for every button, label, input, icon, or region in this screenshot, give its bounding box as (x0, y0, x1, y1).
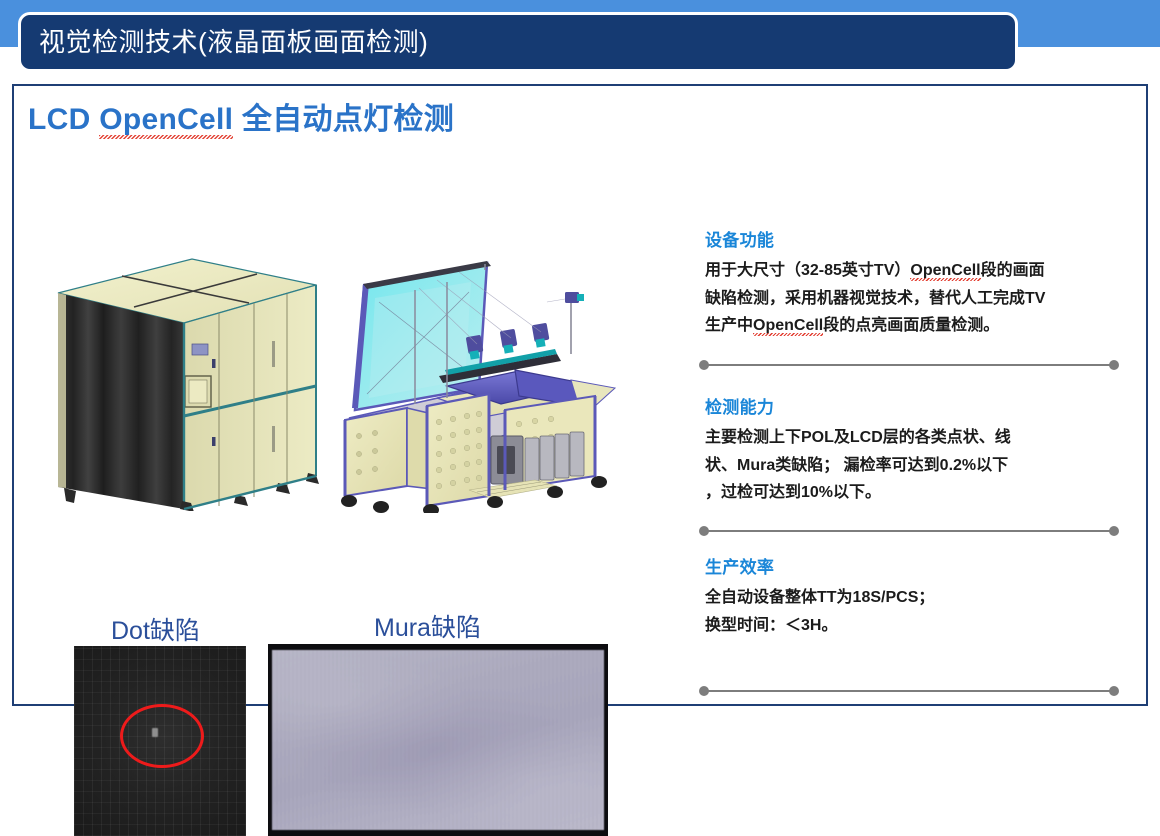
caption-dot-defect: Dot缺陷 (111, 611, 200, 647)
text-run: 换型时间：＜3H。 (705, 617, 837, 634)
text-run-misspelled: OpenCell (910, 262, 980, 279)
mura-panel-surface (272, 650, 604, 830)
sample-image-mura-defect (268, 644, 608, 836)
machine-cabinet-illustration (44, 241, 334, 511)
page-title: LCD OpenCell 全自动点灯检测 (28, 94, 454, 138)
section-line: 生产中OpenCell段的点亮画面质量检测。 (705, 312, 1129, 340)
section-heading: 设备功能 (705, 226, 1129, 251)
text-run: 缺陷检测，采用机器视觉技术，替代人工完成TV (705, 290, 1045, 307)
text-run: 全自动设备整体TT为18S/PCS； (705, 589, 934, 606)
slide-title-text: 视觉检测技术(液晶面板画面检测) (21, 29, 428, 55)
page-title-prefix: LCD (28, 103, 99, 136)
text-run: ，过检可达到10%以下。 (705, 484, 881, 501)
section-line: 缺陷检测，采用机器视觉技术，替代人工完成TV (705, 285, 1129, 313)
divider-line (705, 530, 1113, 532)
divider-line (705, 690, 1113, 692)
section-line: 用于大尺寸（32-85英寸TV）OpenCell段的画面 (705, 257, 1129, 285)
text-run: 主要检测上下POL及LCD层的各类点状、线 (705, 429, 1011, 446)
content-frame: LCD OpenCell 全自动点灯检测 (12, 84, 1148, 706)
text-run: 段的画面 (981, 262, 1045, 279)
section-divider (699, 526, 1119, 536)
dot-defect-marker-ellipse (120, 704, 204, 768)
machine-inspection-rig-illustration (319, 258, 629, 513)
text-run: 状、Mura类缺陷； 漏检率可达到0.2%以下 (705, 457, 1008, 474)
slide-title-bar: 视觉检测技术(液晶面板画面检测) (18, 12, 1018, 72)
slide-root: 视觉检测技术(液晶面板画面检测) LCD OpenCell 全自动点灯检测 (0, 0, 1160, 720)
divider-dot-right (1109, 686, 1119, 696)
spec-section-equipment-function: 设备功能 用于大尺寸（32-85英寸TV）OpenCell段的画面 缺陷检测，采… (699, 226, 1129, 340)
section-line: ，过检可达到10%以下。 (705, 479, 1129, 507)
section-heading: 生产效率 (705, 553, 1129, 578)
page-title-opencell: OpenCell (99, 103, 233, 136)
section-line: 换型时间：＜3H。 (705, 612, 1129, 640)
divider-dot-right (1109, 360, 1119, 370)
section-body: 全自动设备整体TT为18S/PCS； 换型时间：＜3H。 (705, 584, 1129, 639)
illustration-zone: Dot缺陷 Mura缺陷 (14, 146, 674, 526)
section-body: 主要检测上下POL及LCD层的各类点状、线 状、Mura类缺陷； 漏检率可达到0… (705, 424, 1129, 507)
spec-section-detection-capability: 检测能力 主要检测上下POL及LCD层的各类点状、线 状、Mura类缺陷； 漏检… (699, 393, 1129, 507)
section-line: 主要检测上下POL及LCD层的各类点状、线 (705, 424, 1129, 452)
text-run: 生产中 (705, 317, 753, 334)
divider-line (705, 364, 1113, 366)
text-run-misspelled: OpenCell (753, 317, 823, 334)
page-title-suffix: 全自动点灯检测 (233, 103, 454, 136)
divider-dot-right (1109, 526, 1119, 536)
sample-image-dot-defect (74, 646, 246, 836)
section-line: 全自动设备整体TT为18S/PCS； (705, 584, 1129, 612)
section-heading: 检测能力 (705, 393, 1129, 418)
section-line: 状、Mura类缺陷； 漏检率可达到0.2%以下 (705, 452, 1129, 480)
spec-section-production-efficiency: 生产效率 全自动设备整体TT为18S/PCS； 换型时间：＜3H。 (699, 553, 1129, 639)
text-run: 段的点亮画面质量检测。 (823, 317, 999, 334)
section-divider (699, 686, 1119, 696)
text-run: 用于大尺寸（32-85英寸TV） (705, 262, 910, 279)
section-body: 用于大尺寸（32-85英寸TV）OpenCell段的画面 缺陷检测，采用机器视觉… (705, 257, 1129, 340)
caption-mura-defect: Mura缺陷 (374, 608, 481, 644)
section-divider (699, 360, 1119, 370)
